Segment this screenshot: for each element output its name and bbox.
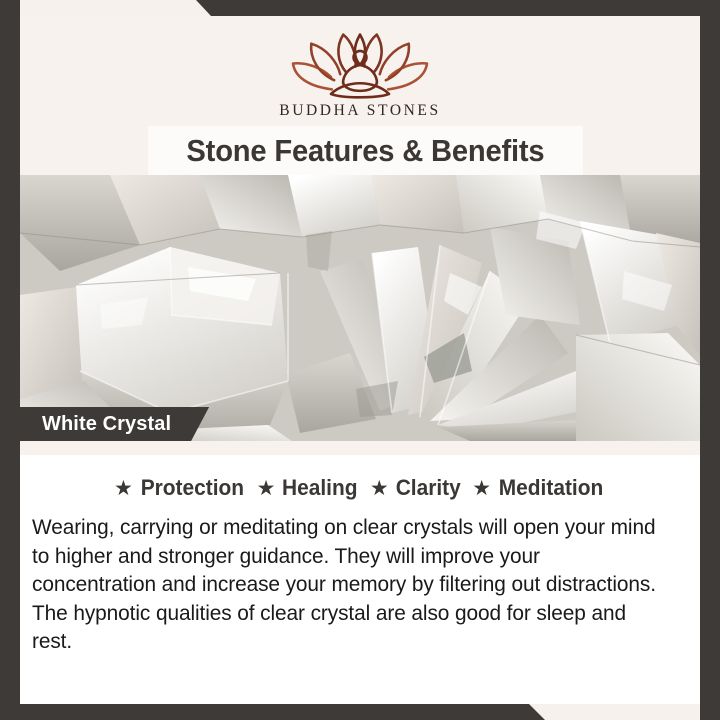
photo-caption-label: White Crystal [42,413,171,436]
benefit-label: Healing [282,475,357,501]
benefit-label: Clarity [395,475,460,501]
frame-left-bar [0,0,20,720]
star-icon: ★ [257,478,276,499]
frame-right-bar [700,0,720,720]
lotus-meditation-figure-logo-icon [280,30,440,100]
crystal-cluster-illustration [20,175,700,441]
product-info-poster: BUDDHA STONES Stone Features & Benefits [0,0,720,720]
benefit-label: Meditation [499,475,604,501]
brand-name: BUDDHA STONES [279,102,440,120]
benefit-item-healing: ★ Healing [257,475,360,501]
benefit-item-clarity: ★ Clarity [370,475,462,501]
stone-photo: White Crystal [20,175,700,441]
frame-bottom-bar [0,704,720,720]
benefit-label: Protection [141,475,244,501]
description-panel: ★ Protection ★ Healing ★ Clarity ★ Medit… [20,455,700,704]
title-banner: Stone Features & Benefits [148,126,583,176]
frame-top-bar [0,0,720,16]
star-icon: ★ [114,478,133,499]
star-icon: ★ [472,478,491,499]
photo-caption-banner: White Crystal [20,407,209,441]
star-icon: ★ [370,478,389,499]
benefit-item-meditation: ★ Meditation [472,475,606,501]
description-text: Wearing, carrying or meditating on clear… [32,513,664,656]
brand-header: BUDDHA STONES [20,16,700,128]
page-title: Stone Features & Benefits [186,133,544,169]
benefits-row: ★ Protection ★ Healing ★ Clarity ★ Medit… [20,455,700,501]
benefit-item-protection: ★ Protection [114,475,247,501]
poster-card: BUDDHA STONES Stone Features & Benefits [20,16,700,704]
